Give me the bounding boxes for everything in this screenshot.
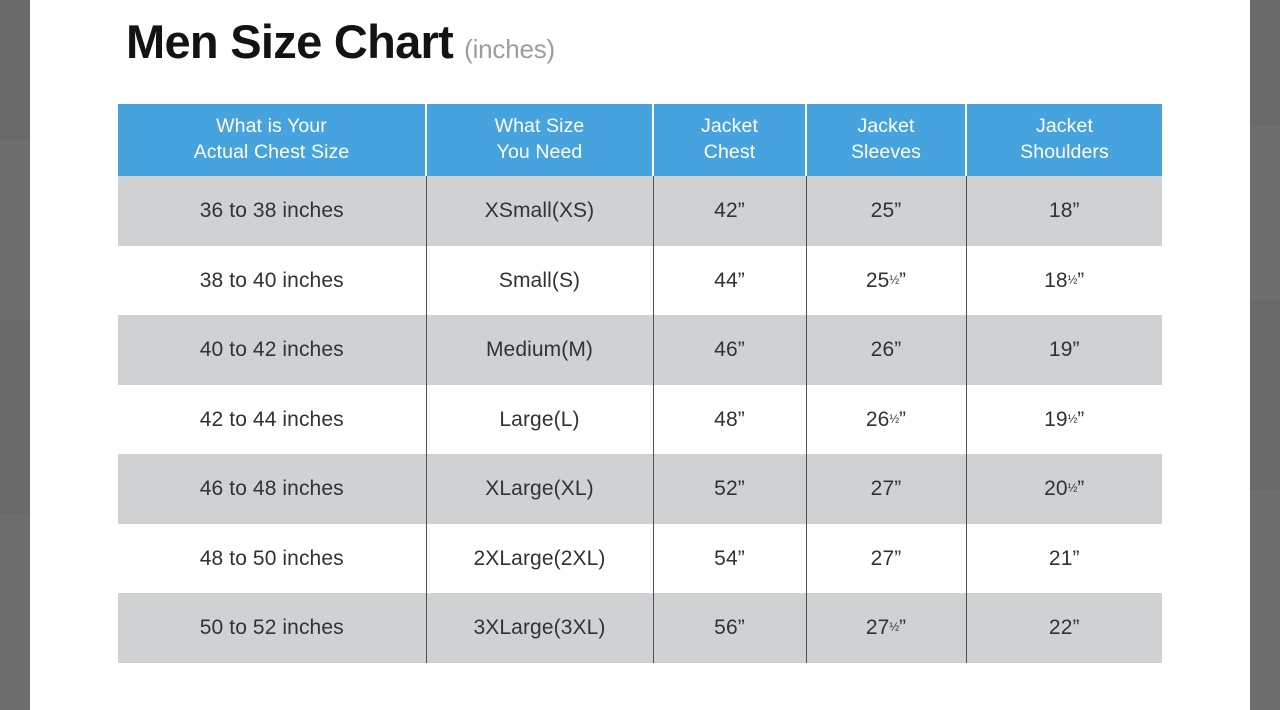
column-header-size-you-need: What Size You Need: [426, 104, 653, 176]
cell-jacket-chest: 42”: [653, 176, 806, 246]
table-header: What is Your Actual Chest Size What Size…: [118, 104, 1162, 176]
table-row: 46 to 48 inchesXLarge(XL)52”27”20½”: [118, 454, 1162, 524]
table-row: 42 to 44 inchesLarge(L)48”26½”19½”: [118, 385, 1162, 455]
cell-size-label: 3XLarge(3XL): [426, 593, 653, 663]
header-line-2: You Need: [431, 140, 648, 166]
cell-chest-range: 46 to 48 inches: [118, 454, 426, 524]
cell-size-label: XLarge(XL): [426, 454, 653, 524]
letterbox-left: [0, 0, 30, 710]
header-line-2: Chest: [658, 140, 801, 166]
column-header-jacket-sleeves: Jacket Sleeves: [806, 104, 966, 176]
half-fraction: ½: [889, 621, 899, 634]
cell-jacket-sleeves: 26½”: [806, 385, 966, 455]
size-chart-table: What is Your Actual Chest Size What Size…: [118, 104, 1162, 663]
half-fraction: ½: [1068, 412, 1078, 425]
cell-jacket-chest: 48”: [653, 385, 806, 455]
cell-jacket-shoulders: 21”: [966, 524, 1162, 594]
cell-size-label: 2XLarge(2XL): [426, 524, 653, 594]
half-fraction: ½: [889, 412, 899, 425]
page-title-text: Men Size Chart: [126, 18, 453, 65]
page-title-unit: (inches): [464, 36, 555, 62]
cell-jacket-chest: 44”: [653, 246, 806, 316]
column-header-jacket-chest: Jacket Chest: [653, 104, 806, 176]
cell-jacket-sleeves: 25½”: [806, 246, 966, 316]
cell-chest-range: 36 to 38 inches: [118, 176, 426, 246]
column-header-jacket-shoulders: Jacket Shoulders: [966, 104, 1162, 176]
cell-chest-range: 42 to 44 inches: [118, 385, 426, 455]
header-line-1: Jacket: [811, 114, 961, 140]
header-line-2: Shoulders: [971, 140, 1158, 166]
header-line-2: Actual Chest Size: [122, 140, 421, 166]
header-line-1: Jacket: [658, 114, 801, 140]
cell-jacket-chest: 56”: [653, 593, 806, 663]
cell-jacket-sleeves: 25”: [806, 176, 966, 246]
table-row: 50 to 52 inches3XLarge(3XL)56”27½”22”: [118, 593, 1162, 663]
cell-size-label: XSmall(XS): [426, 176, 653, 246]
slide-canvas: Men Size Chart (inches) What is Your Act…: [30, 0, 1250, 710]
cell-jacket-shoulders: 19”: [966, 315, 1162, 385]
cell-jacket-sleeves: 27½”: [806, 593, 966, 663]
cell-jacket-shoulders: 18½”: [966, 246, 1162, 316]
letterbox-band: [1250, 0, 1280, 125]
cell-size-label: Medium(M): [426, 315, 653, 385]
cell-jacket-sleeves: 27”: [806, 524, 966, 594]
header-row: What is Your Actual Chest Size What Size…: [118, 104, 1162, 176]
header-line-1: Jacket: [971, 114, 1158, 140]
cell-chest-range: 48 to 50 inches: [118, 524, 426, 594]
half-fraction: ½: [1068, 273, 1078, 286]
cell-size-label: Large(L): [426, 385, 653, 455]
cell-jacket-chest: 52”: [653, 454, 806, 524]
cell-jacket-shoulders: 20½”: [966, 454, 1162, 524]
half-fraction: ½: [889, 273, 899, 286]
letterbox-right: [1250, 0, 1280, 710]
size-chart-table-wrap: What is Your Actual Chest Size What Size…: [118, 104, 1162, 663]
header-line-2: Sleeves: [811, 140, 961, 166]
table-row: 38 to 40 inchesSmall(S)44”25½”18½”: [118, 246, 1162, 316]
cell-chest-range: 50 to 52 inches: [118, 593, 426, 663]
cell-jacket-chest: 46”: [653, 315, 806, 385]
cell-size-label: Small(S): [426, 246, 653, 316]
cell-jacket-shoulders: 18”: [966, 176, 1162, 246]
table-body: 36 to 38 inchesXSmall(XS)42”25”18”38 to …: [118, 176, 1162, 663]
cell-jacket-chest: 54”: [653, 524, 806, 594]
table-row: 40 to 42 inchesMedium(M)46”26”19”: [118, 315, 1162, 385]
cell-jacket-sleeves: 27”: [806, 454, 966, 524]
cell-chest-range: 40 to 42 inches: [118, 315, 426, 385]
letterbox-band: [0, 320, 30, 515]
header-line-1: What Size: [431, 114, 648, 140]
column-header-actual-chest-size: What is Your Actual Chest Size: [118, 104, 426, 176]
cell-jacket-sleeves: 26”: [806, 315, 966, 385]
cell-chest-range: 38 to 40 inches: [118, 246, 426, 316]
header-line-1: What is Your: [122, 114, 421, 140]
letterbox-band: [0, 0, 30, 140]
table-row: 48 to 50 inches2XLarge(2XL)54”27”21”: [118, 524, 1162, 594]
letterbox-band: [1250, 300, 1280, 490]
page-title: Men Size Chart (inches): [126, 18, 555, 65]
cell-jacket-shoulders: 22”: [966, 593, 1162, 663]
table-row: 36 to 38 inchesXSmall(XS)42”25”18”: [118, 176, 1162, 246]
half-fraction: ½: [1068, 482, 1078, 495]
cell-jacket-shoulders: 19½”: [966, 385, 1162, 455]
